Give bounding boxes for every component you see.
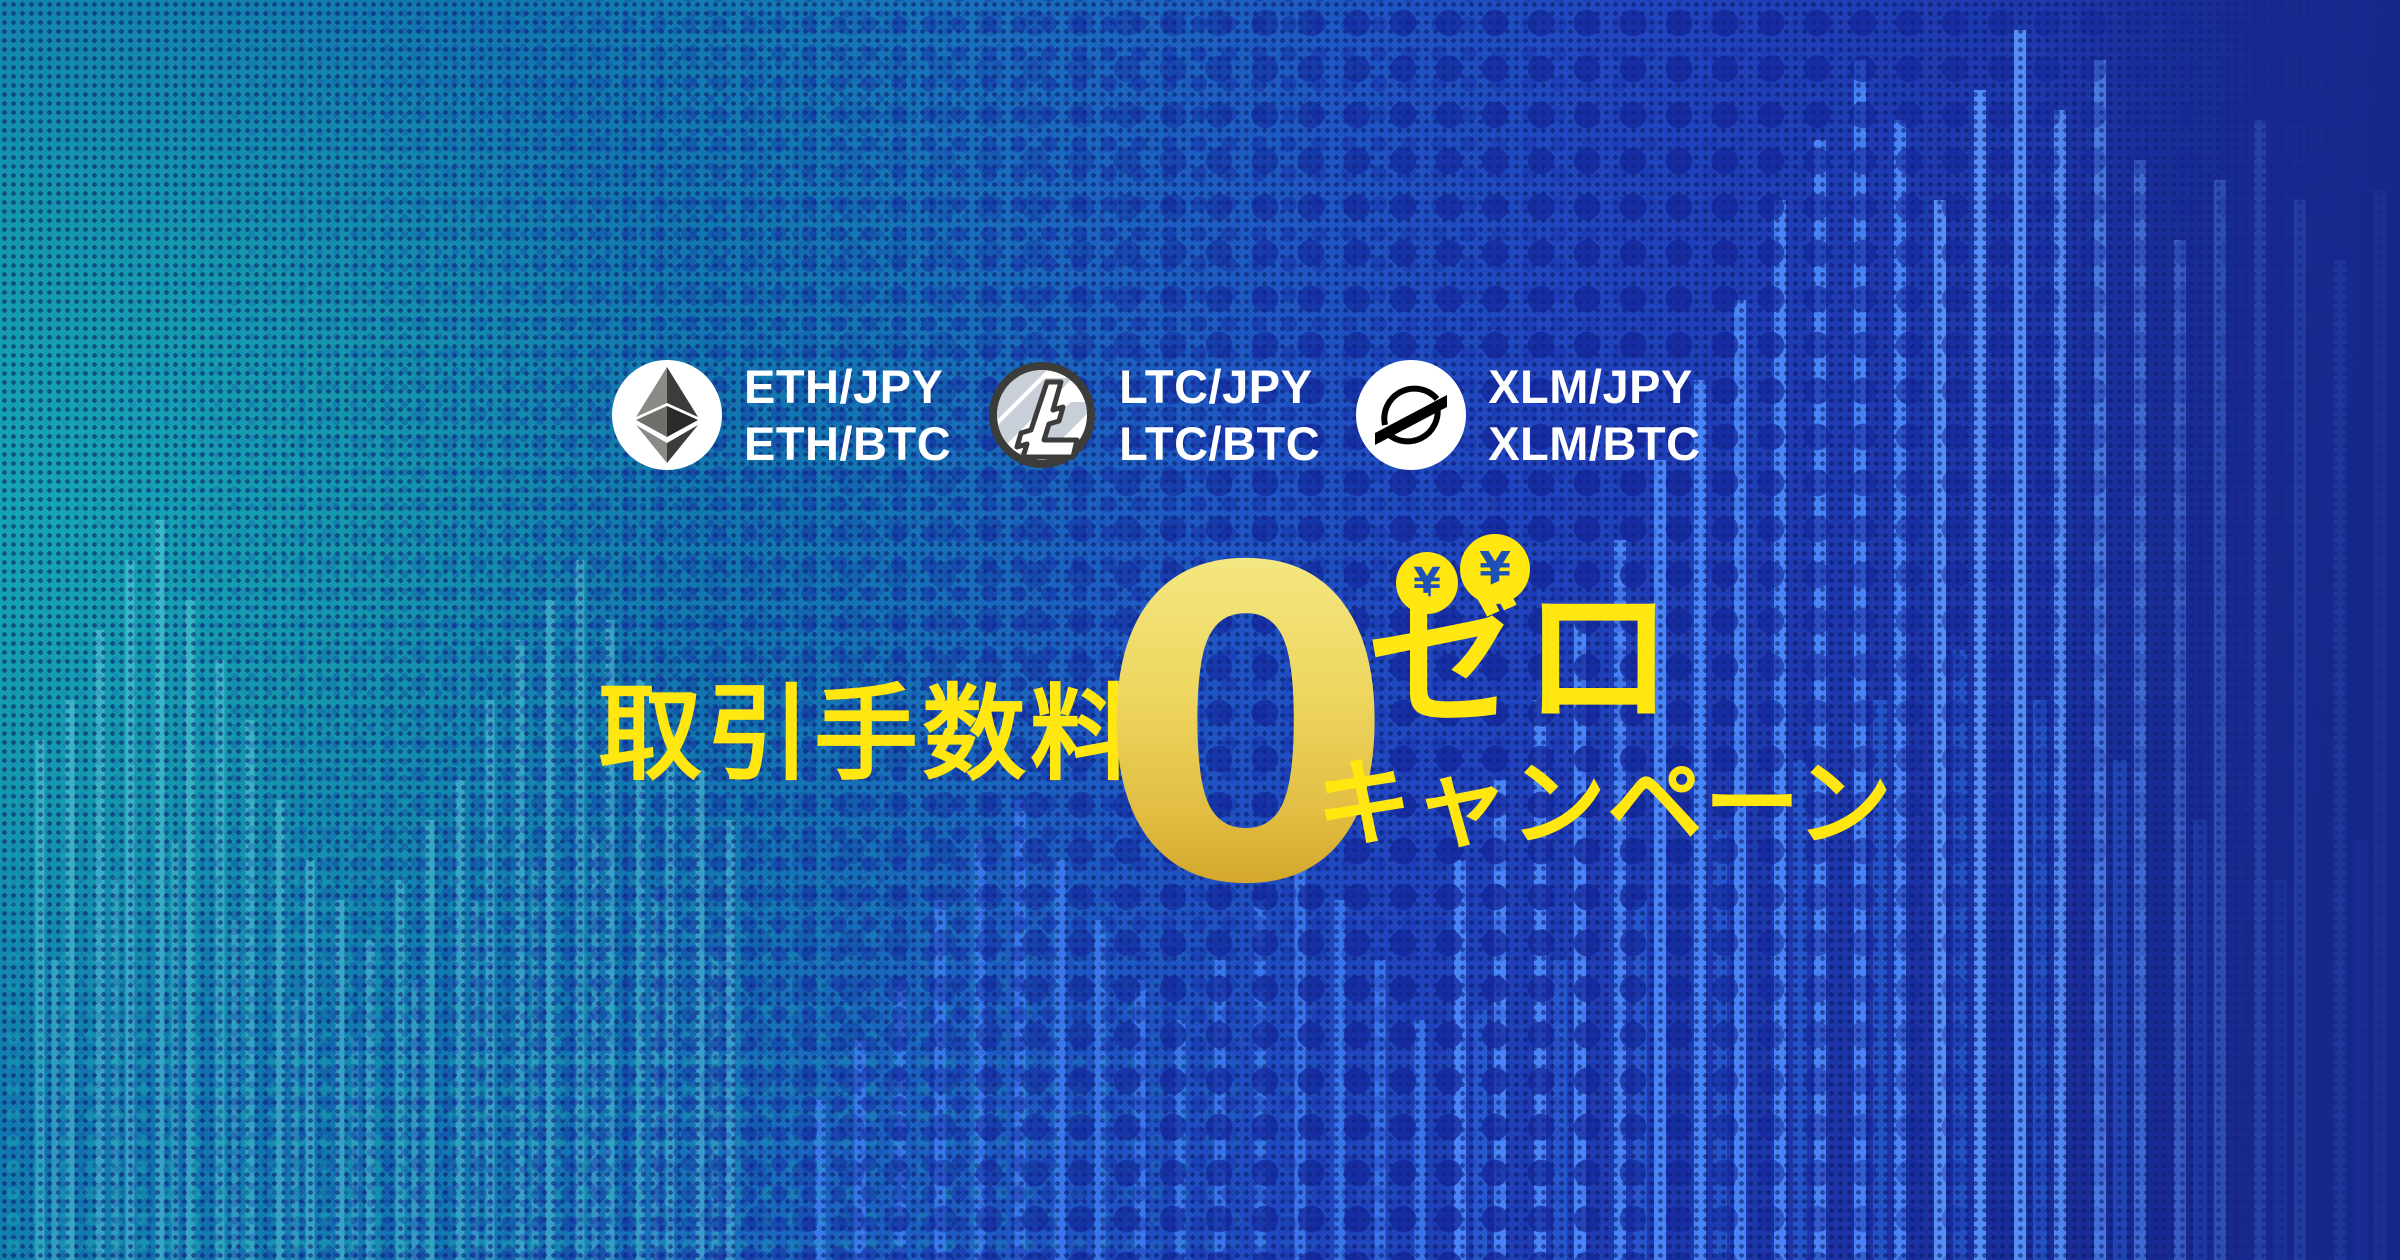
- ethereum-icon: [612, 360, 722, 470]
- headline-block: 取引手数料 0 ¥ ¥ ゼロ キャンペーン: [598, 530, 1858, 950]
- pair-group-xlm: XLM/JPY XLM/BTC: [1356, 358, 1736, 473]
- headline-campaign-word: キャンペーン: [1316, 756, 1893, 852]
- headline-zero-word: ゼロ: [1368, 582, 1676, 734]
- pair-labels-eth: ETH/JPY ETH/BTC: [744, 358, 951, 473]
- pair-label-xlm-btc: XLM/BTC: [1488, 415, 1700, 472]
- pair-label-eth-jpy: ETH/JPY: [744, 358, 951, 415]
- pair-label-eth-btc: ETH/BTC: [744, 415, 951, 472]
- pair-label-xlm-jpy: XLM/JPY: [1488, 358, 1700, 415]
- pair-label-ltc-btc: LTC/BTC: [1119, 415, 1320, 472]
- right-edge-vignette: [2040, 0, 2400, 1260]
- promo-banner: ETH/JPY ETH/BTC: [0, 0, 2400, 1260]
- litecoin-icon: [987, 360, 1097, 470]
- pair-label-ltc-jpy: LTC/JPY: [1119, 358, 1320, 415]
- pair-labels-ltc: LTC/JPY LTC/BTC: [1119, 358, 1320, 473]
- headline-lead-text: 取引手数料: [598, 682, 1138, 786]
- crypto-pairs-row: ETH/JPY ETH/BTC: [612, 358, 1737, 473]
- pair-labels-xlm: XLM/JPY XLM/BTC: [1488, 358, 1700, 473]
- pair-group-eth: ETH/JPY ETH/BTC: [612, 358, 987, 473]
- stellar-icon: [1356, 360, 1466, 470]
- headline-zero-digit: 0: [1096, 514, 1387, 944]
- pair-group-ltc: LTC/JPY LTC/BTC: [987, 358, 1356, 473]
